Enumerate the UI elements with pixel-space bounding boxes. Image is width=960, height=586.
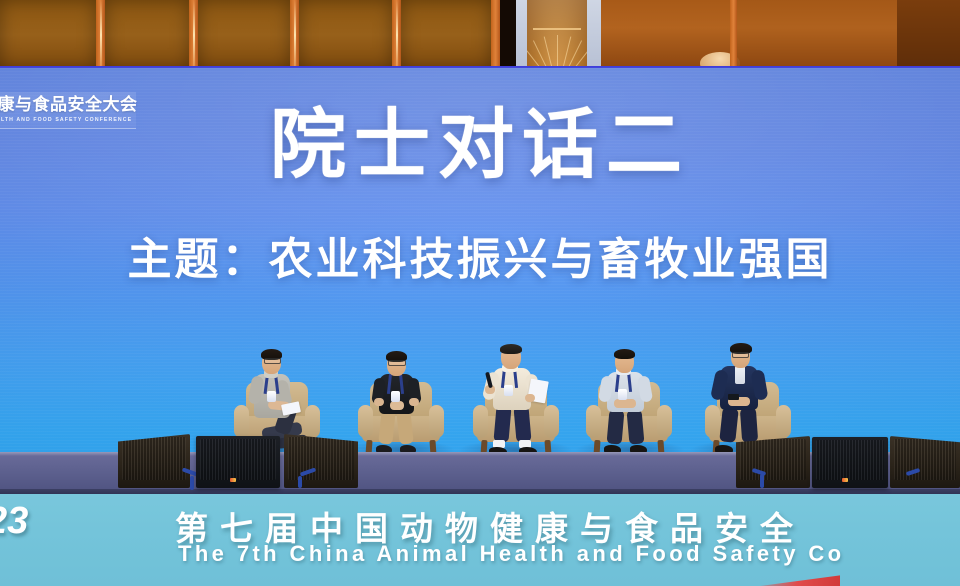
ceiling-wood-wall [0, 0, 960, 70]
glasses [264, 358, 281, 364]
banner-year-text: 23 [0, 500, 28, 543]
leg [627, 409, 645, 444]
hair [614, 349, 635, 359]
speaker-cable [760, 474, 764, 488]
name-badge [618, 389, 627, 400]
slide-main-title: 院士对话二 [0, 108, 960, 184]
banner-english-title: The 7th China Animal Health and Food Saf… [178, 541, 845, 567]
hands [614, 399, 636, 408]
conference-stage-photo: 健康与食品安全大会 L HEALTH AND FOOD SAFETY CONFE… [0, 0, 960, 586]
stage-monitor-wedge [196, 436, 280, 488]
name-badge [504, 385, 513, 396]
hair [500, 344, 522, 354]
speaker-cable [190, 476, 194, 490]
name-badge [267, 391, 276, 402]
leg [396, 409, 413, 444]
stage-monitor-wedge [118, 434, 190, 488]
stage-monitor-wedge [890, 436, 960, 488]
stage-monitor-wedge [812, 437, 888, 488]
person-body [695, 330, 800, 456]
speaker-cable [298, 476, 302, 488]
clasped-hands [390, 401, 404, 410]
stage-monitor-wedge [284, 434, 358, 488]
leg [607, 409, 625, 444]
leg [740, 407, 758, 442]
hand [409, 398, 419, 406]
panelist-right-2 [580, 336, 680, 456]
hand [525, 394, 535, 402]
person-body [465, 330, 570, 456]
leg [719, 407, 738, 442]
phone [728, 394, 739, 400]
person-body [580, 336, 680, 456]
panelist-right-1 [695, 330, 800, 456]
panelist-center-speaker [465, 330, 570, 456]
glasses [732, 352, 749, 358]
glasses [388, 360, 406, 366]
leg [378, 409, 395, 444]
stage-monitor-wedge [736, 436, 810, 488]
slide-sub-title: 主题：农业科技振兴与畜牧业强国 [0, 238, 960, 282]
person-body [352, 336, 452, 456]
name-badge [391, 391, 400, 402]
leg [513, 405, 531, 442]
leg [493, 405, 511, 442]
papers [281, 401, 301, 416]
dress-shirt [735, 366, 745, 384]
panelist-left-2 [352, 336, 452, 456]
decorative-fan-panel [527, 0, 587, 70]
hand [374, 398, 384, 406]
